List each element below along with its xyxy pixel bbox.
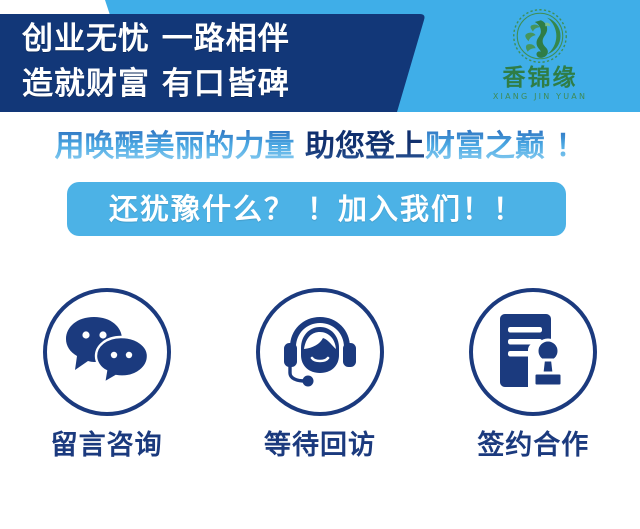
- subheadline: 用唤醒美丽的力量 助您登上财富之巅 ！: [0, 124, 640, 170]
- step-label-3: 签约合作: [433, 430, 633, 462]
- header-slogan: 创业无忧 一路相伴 造就财富 有口皆碑: [22, 17, 422, 109]
- header-banner: 创业无忧 一路相伴 造就财富 有口皆碑 香锦缘 XIANG JIN YUAN: [0, 0, 640, 118]
- step-icon-circle-2: [256, 288, 384, 416]
- step-label-2: 等待回访: [220, 430, 420, 462]
- brand-logo: 香锦缘 XIANG JIN YUAN: [484, 8, 596, 112]
- step-item-await-callback[interactable]: 等待回访: [220, 288, 420, 462]
- call-to-action-banner[interactable]: 还犹豫什么？ ！加入我们！！: [67, 182, 566, 236]
- contract-document-stamp-icon: [495, 313, 571, 391]
- steps-row: 留言咨询 等待回访: [0, 288, 640, 498]
- call-to-action-text: 还犹豫什么？ ！加入我们！！: [109, 192, 524, 226]
- promotional-poster: 创业无忧 一路相伴 造就财富 有口皆碑 香锦缘 XIANG JIN YUAN 用…: [0, 0, 640, 529]
- step-icon-circle-3: [469, 288, 597, 416]
- step-item-sign-contract[interactable]: 签约合作: [433, 288, 633, 462]
- header-slogan-line-2: 造就财富 有口皆碑: [22, 62, 422, 107]
- step-item-message-consult[interactable]: 留言咨询: [7, 288, 207, 462]
- chat-bubbles-icon: [64, 315, 150, 389]
- header-slogan-line-1: 创业无忧 一路相伴: [22, 17, 422, 62]
- subheadline-segment-2: 助您登上: [305, 129, 425, 164]
- logo-name-chinese: 香锦缘: [484, 65, 596, 91]
- logo-name-pinyin: XIANG JIN YUAN: [484, 91, 596, 102]
- step-icon-circle-1: [43, 288, 171, 416]
- subheadline-segment-3: 财富之巅 ！: [425, 129, 585, 164]
- subheadline-segment-1: 用唤醒美丽的力量: [55, 129, 305, 164]
- headset-support-agent-icon: [279, 313, 361, 391]
- step-label-1: 留言咨询: [7, 430, 207, 462]
- phoenix-circle-emblem-icon: [512, 8, 568, 64]
